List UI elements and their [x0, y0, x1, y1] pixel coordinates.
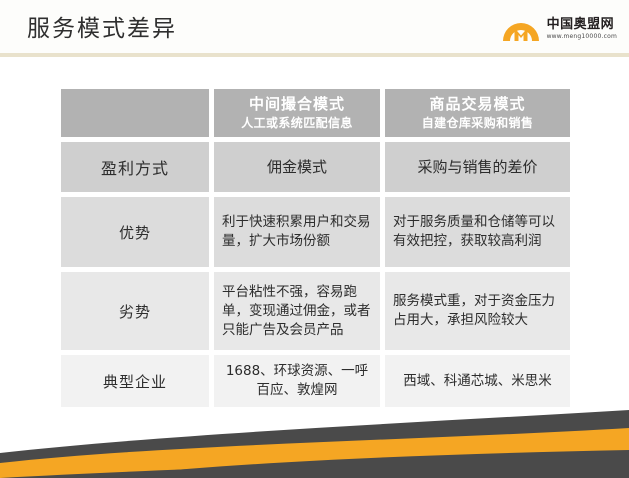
row-cell-trading: 对于服务质量和仓储等可以有效把控，获取较高利润	[385, 197, 570, 267]
header-intermediary-sub: 人工或系统匹配信息	[241, 115, 353, 131]
row-cell-intermediary: 佣金模式	[214, 142, 380, 192]
page-title: 服务模式差异	[27, 12, 177, 46]
row-cell-text: 平台粘性不强，容易跑单，变现通过佣金，或者只能广告及会员产品	[222, 283, 372, 340]
title-underline-rule	[0, 53, 629, 57]
header-intermediary-main: 中间撮合模式	[249, 95, 345, 114]
table-row: 优势 利于快速积累用户和交易量，扩大市场份额 对于服务质量和仓储等可以有效把控，…	[61, 197, 570, 267]
row-cell-trading: 采购与销售的差价	[385, 142, 570, 192]
footer-dark-swoosh	[0, 410, 629, 478]
header-cell-intermediary: 中间撮合模式 人工或系统匹配信息	[214, 89, 380, 137]
table-row: 盈利方式 佣金模式 采购与销售的差价	[61, 142, 570, 192]
header-trading-sub: 自建仓库采购和销售	[422, 115, 534, 131]
row-label: 盈利方式	[61, 142, 209, 192]
row-label: 典型企业	[61, 355, 209, 407]
logo-name: 中国奥盟网	[547, 18, 617, 31]
row-cell-text: 对于服务质量和仓储等可以有效把控，获取较高利润	[393, 213, 562, 251]
comparison-table: 中间撮合模式 人工或系统匹配信息 商品交易模式 自建仓库采购和销售 盈利方式 佣…	[61, 89, 570, 412]
footer-dark-swoosh-lower	[95, 450, 629, 478]
header-trading-main: 商品交易模式	[429, 95, 525, 114]
slide-header: 服务模式差异 中国奥盟网 www.meng10000.com	[0, 0, 629, 57]
row-cell-text: 服务模式重，对于资金压力占用大，承担风险较大	[393, 292, 562, 330]
slide-canvas: 服务模式差异 中国奥盟网 www.meng10000.com 中间撮合模式 人工…	[0, 0, 629, 478]
logo-text-block: 中国奥盟网 www.meng10000.com	[547, 18, 617, 40]
row-cell-intermediary: 1688、环球资源、一呼百应、敦煌网	[214, 355, 380, 407]
row-cell-text: 佣金模式	[222, 158, 372, 177]
table-header-row: 中间撮合模式 人工或系统匹配信息 商品交易模式 自建仓库采购和销售	[61, 89, 570, 137]
row-cell-intermediary: 利于快速积累用户和交易量，扩大市场份额	[214, 197, 380, 267]
footer-gold-swoosh	[0, 428, 629, 478]
row-cell-text: 利于快速积累用户和交易量，扩大市场份额	[222, 213, 372, 251]
meng-logo-icon	[501, 14, 541, 44]
row-cell-text: 采购与销售的差价	[393, 158, 562, 177]
row-cell-text: 1688、环球资源、一呼百应、敦煌网	[222, 362, 372, 400]
row-label: 劣势	[61, 272, 209, 350]
row-cell-trading: 西域、科通芯城、米思米	[385, 355, 570, 407]
row-cell-intermediary: 平台粘性不强，容易跑单，变现通过佣金，或者只能广告及会员产品	[214, 272, 380, 350]
table-row: 劣势 平台粘性不强，容易跑单，变现通过佣金，或者只能广告及会员产品 服务模式重，…	[61, 272, 570, 350]
header-cell-trading: 商品交易模式 自建仓库采购和销售	[385, 89, 570, 137]
row-cell-trading: 服务模式重，对于资金压力占用大，承担风险较大	[385, 272, 570, 350]
row-cell-text: 西域、科通芯城、米思米	[393, 372, 562, 391]
brand-logo: 中国奥盟网 www.meng10000.com	[501, 12, 617, 46]
header-cell-blank	[61, 89, 209, 137]
logo-url: www.meng10000.com	[547, 34, 617, 40]
row-label: 优势	[61, 197, 209, 267]
footer-swoosh-decoration	[0, 406, 629, 478]
table-row: 典型企业 1688、环球资源、一呼百应、敦煌网 西域、科通芯城、米思米	[61, 355, 570, 407]
